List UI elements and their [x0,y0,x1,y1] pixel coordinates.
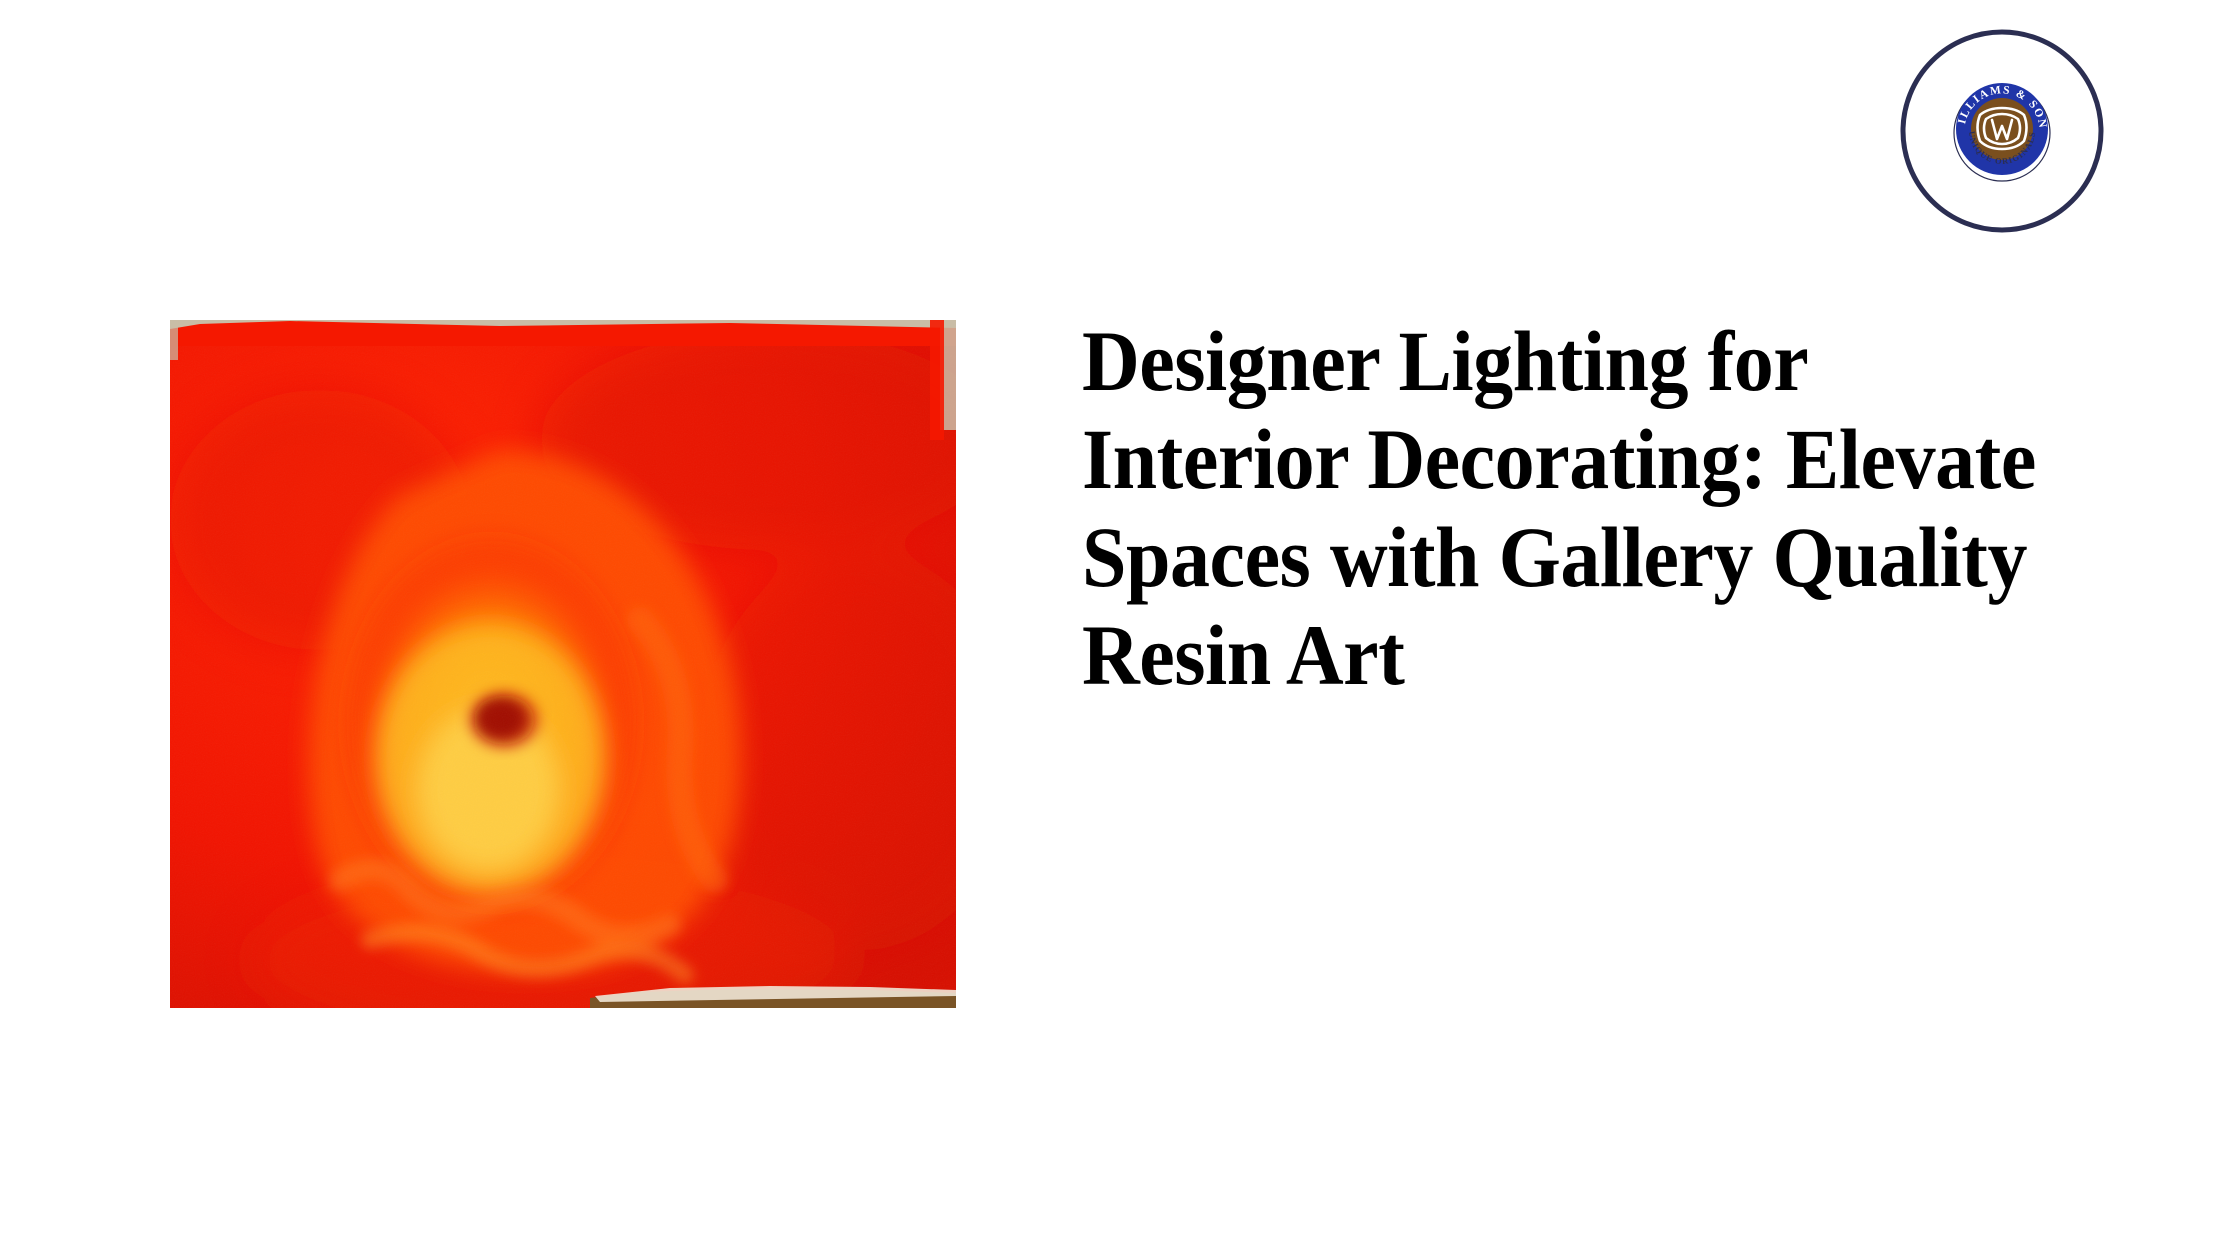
artwork-left-edge [170,320,178,360]
headline-block: Designer Lighting for Interior Decoratin… [1082,312,2162,704]
brand-logo: WILLIAMS & SONS UNIQUE ORIGINALS [1898,27,2106,235]
artwork-graphic [170,320,956,1008]
artwork-grain [170,320,956,1008]
page-title: Designer Lighting for Interior Decoratin… [1082,312,2086,704]
artwork-image [170,320,956,1008]
artwork-right-lip [930,320,944,440]
brand-logo-graphic: WILLIAMS & SONS UNIQUE ORIGINALS [1898,27,2106,235]
